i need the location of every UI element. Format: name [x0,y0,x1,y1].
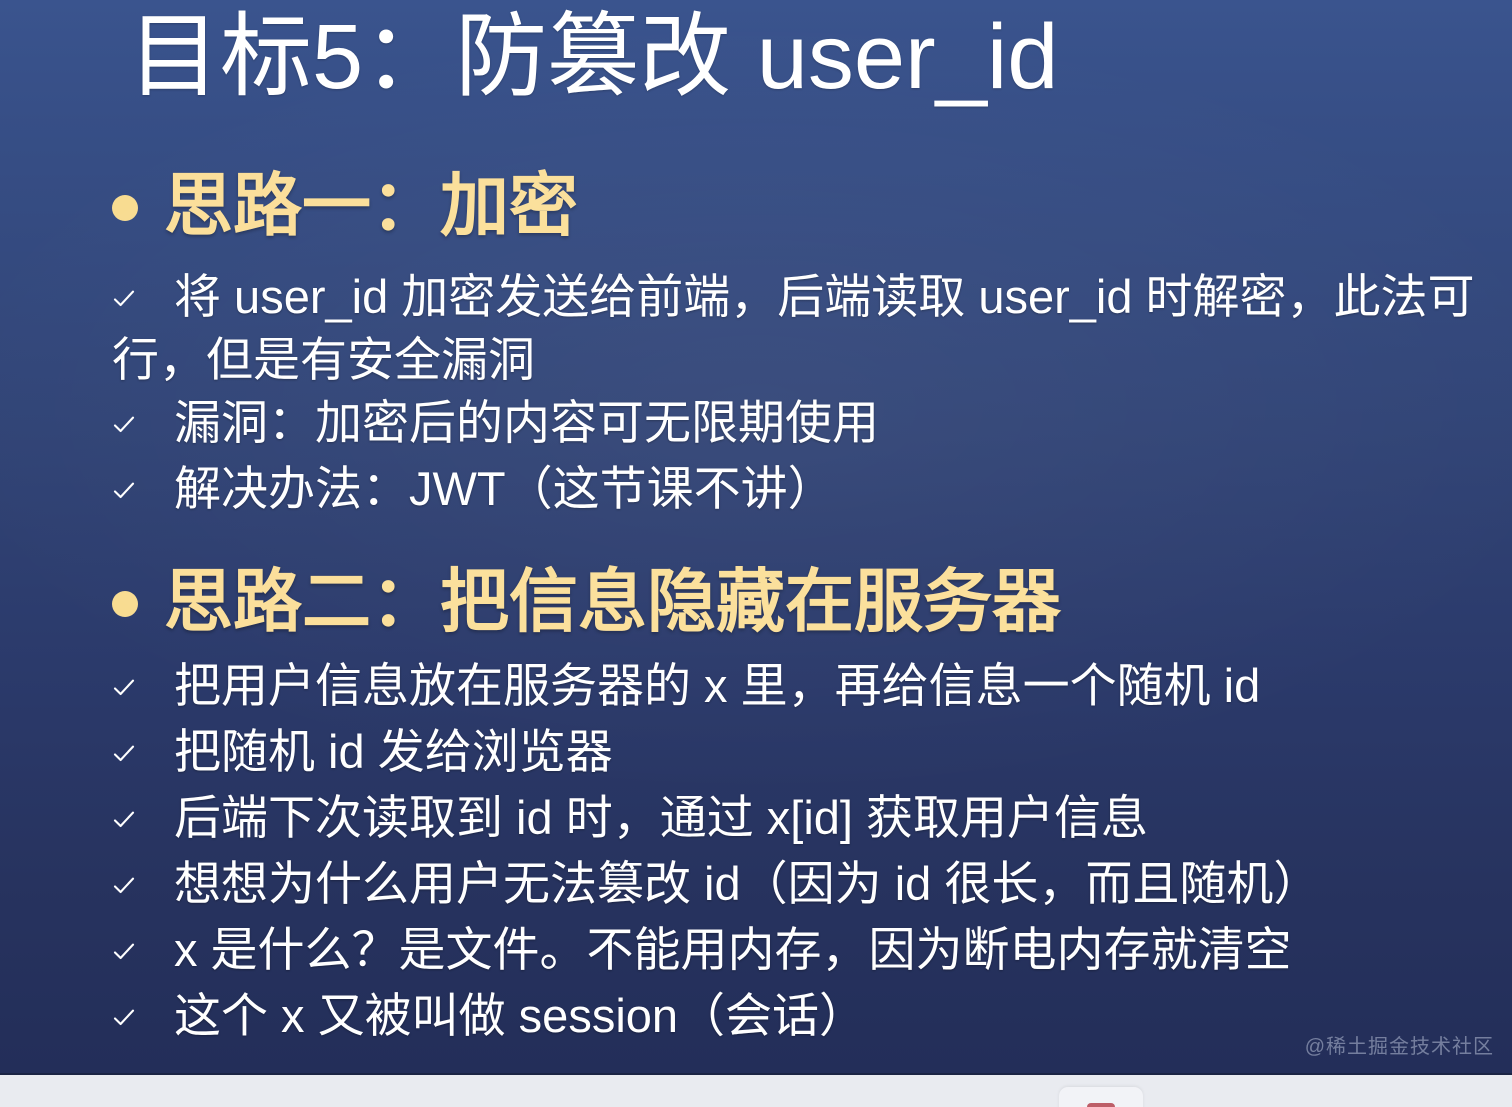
section-heading-idea-two: 思路二：把信息隐藏在服务器 [112,560,1061,644]
dot-bullet-icon [112,195,138,221]
watermark: @稀土掘金技术社区 [1305,1030,1494,1059]
check-icon [112,940,136,964]
list-item-text: 解决办法：JWT（这节课不讲） [174,457,835,520]
check-icon [112,874,136,898]
section-heading-idea-one: 思路一：加密 [112,164,578,248]
list-item-text: 漏洞：加密后的内容可无限期使用 [174,391,879,454]
presentation-slide: 目标5：防篡改 user_id 思路一：加密 将 user_id 加密发送给前端… [0,0,1512,1073]
list-item: 将 user_id 加密发送给前端，后端读取 user_id 时解密，此法可行，… [112,265,1512,391]
list-item: 漏洞：加密后的内容可无限期使用 [112,391,1512,454]
list-item: 把用户信息放在服务器的 x 里，再给信息一个随机 id [112,654,1512,717]
list-item: 想想为什么用户无法篡改 id（因为 id 很长，而且随机） [112,852,1512,915]
list-item: 把随机 id 发给浏览器 [112,720,1512,783]
check-icon [112,808,136,832]
list-item-text: 将 user_id 加密发送给前端，后端读取 user_id 时解密，此法可行，… [112,265,1512,391]
section-heading-label: 思路二：把信息隐藏在服务器 [164,560,1061,644]
list-item-text: x 是什么？是文件。不能用内存，因为断电内存就清空 [174,918,1292,981]
list-item: 解决办法：JWT（这节课不讲） [112,457,1512,520]
check-icon [112,742,136,766]
video-player-chip[interactable] [1059,1087,1143,1107]
slide-stage: 目标5：防篡改 user_id 思路一：加密 将 user_id 加密发送给前端… [0,0,1512,1107]
check-icon [112,413,136,437]
check-icon [112,287,136,311]
list-item: 这个 x 又被叫做 session（会话） [112,984,1512,1047]
list-item: x 是什么？是文件。不能用内存，因为断电内存就清空 [112,918,1512,981]
check-icon [112,1006,136,1030]
check-icon [112,479,136,503]
player-progress-indicator [1087,1103,1115,1107]
list-item-text: 把用户信息放在服务器的 x 里，再给信息一个随机 id [174,654,1260,717]
list-item-text: 想想为什么用户无法篡改 id（因为 id 很长，而且随机） [174,852,1320,915]
page-title: 目标5：防篡改 user_id [128,0,1058,116]
list-item-text: 把随机 id 发给浏览器 [174,720,613,783]
list-item-text: 这个 x 又被叫做 session（会话） [174,984,866,1047]
list-item: 后端下次读取到 id 时，通过 x[id] 获取用户信息 [112,786,1512,849]
check-icon [112,676,136,700]
list-item-text: 后端下次读取到 id 时，通过 x[id] 获取用户信息 [174,786,1148,849]
dot-bullet-icon [112,591,138,617]
section-heading-label: 思路一：加密 [164,164,578,248]
bottom-chrome-strip [0,1073,1512,1107]
slide-body: 思路一：加密 将 user_id 加密发送给前端，后端读取 user_id 时解… [0,118,1512,1073]
